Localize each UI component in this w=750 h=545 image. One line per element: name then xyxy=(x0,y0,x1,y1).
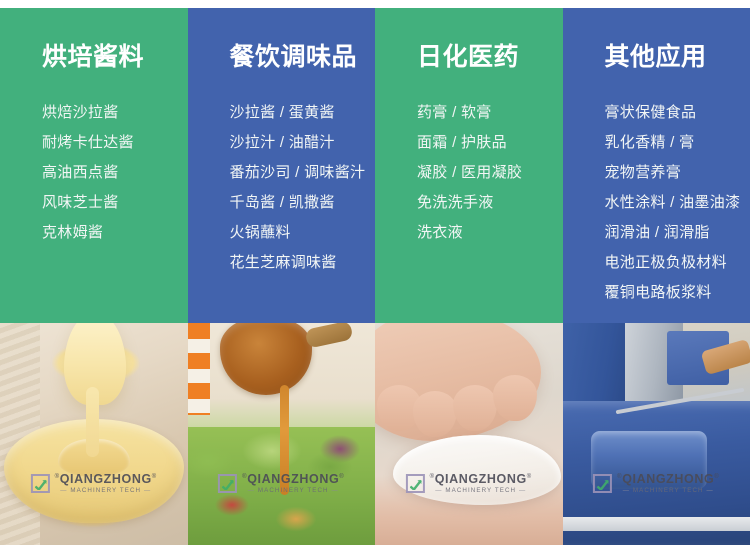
photo-salad-dressing-pour: ®QIANGZHONG® — MACHINERY TECH — xyxy=(188,323,376,545)
category-column-baking-sauce[interactable]: 烘培酱料 烘焙沙拉酱 耐烤卡仕达酱 高油西点酱 风味芝士酱 克林姆酱 xyxy=(0,8,188,323)
tray-rim-shape xyxy=(563,517,750,531)
list-item: 电池正极负极材料 xyxy=(605,248,750,278)
category-column-catering-seasoning[interactable]: 餐饮调味品 沙拉酱 / 蛋黄酱 沙拉汁 / 油醋汁 番茄沙司 / 调味酱汁 千岛… xyxy=(188,8,376,323)
list-item: 水性涂料 / 油墨油漆 xyxy=(605,188,750,218)
photo-strip: ®QIANGZHONG® — MACHINERY TECH — ®QIA xyxy=(0,323,750,545)
category-title: 其他应用 xyxy=(605,44,750,72)
list-item: 沙拉汁 / 油醋汁 xyxy=(230,128,376,158)
finger-shape xyxy=(493,375,537,421)
list-item: 高油西点酱 xyxy=(42,158,188,188)
list-item: 覆铜电路板浆料 xyxy=(605,278,750,308)
category-title: 餐饮调味品 xyxy=(230,44,376,72)
category-item-list: 烘焙沙拉酱 耐烤卡仕达酱 高油西点酱 风味芝士酱 克林姆酱 xyxy=(42,98,188,248)
list-item: 膏状保健食品 xyxy=(605,98,750,128)
category-column-other-applications[interactable]: 其他应用 膏状保健食品 乳化香精 / 膏 宠物营养膏 水性涂料 / 油墨油漆 润… xyxy=(563,8,750,323)
paint-roller-shape xyxy=(591,431,707,489)
list-item: 克林姆酱 xyxy=(42,218,188,248)
category-title: 烘培酱料 xyxy=(42,44,188,72)
category-title: 日化医药 xyxy=(417,44,563,72)
list-item: 润滑油 / 润滑脂 xyxy=(605,218,750,248)
sauce-swirl-shape xyxy=(58,439,130,477)
list-item: 花生芝麻调味酱 xyxy=(230,248,376,278)
list-item: 宠物营养膏 xyxy=(605,158,750,188)
list-item: 烘焙沙拉酱 xyxy=(42,98,188,128)
category-item-list: 膏状保健食品 乳化香精 / 膏 宠物营养膏 水性涂料 / 油墨油漆 润滑油 / … xyxy=(605,98,750,308)
category-column-daily-chemical-pharma[interactable]: 日化医药 药膏 / 软膏 面霜 / 护肤品 凝胶 / 医用凝胶 免洗洗手液 洗衣… xyxy=(375,8,563,323)
list-item: 面霜 / 护肤品 xyxy=(417,128,563,158)
photo-blue-paint-roller: ®QIANGZHONG® — MACHINERY TECH — xyxy=(563,323,750,545)
paint-can-shape xyxy=(563,323,633,413)
package-shape xyxy=(188,323,210,415)
list-item: 沙拉酱 / 蛋黄酱 xyxy=(230,98,376,128)
pouring-stream-shape xyxy=(280,385,289,495)
photo-creamy-yellow-sauce: ®QIANGZHONG® — MACHINERY TECH — xyxy=(0,323,188,545)
wooden-handle-shape xyxy=(304,323,353,349)
list-item: 洗衣液 xyxy=(417,218,563,248)
list-item: 番茄沙司 / 调味酱汁 xyxy=(230,158,376,188)
list-item: 乳化香精 / 膏 xyxy=(605,128,750,158)
category-item-list: 药膏 / 软膏 面霜 / 护肤品 凝胶 / 医用凝胶 免洗洗手液 洗衣液 xyxy=(417,98,563,248)
list-item: 免洗洗手液 xyxy=(417,188,563,218)
application-showcase-page: 烘培酱料 烘焙沙拉酱 耐烤卡仕达酱 高油西点酱 风味芝士酱 克林姆酱 餐饮调味品… xyxy=(0,0,750,545)
gel-smear-shape xyxy=(393,435,561,505)
list-item: 药膏 / 软膏 xyxy=(417,98,563,128)
list-item: 耐烤卡仕达酱 xyxy=(42,128,188,158)
list-item: 凝胶 / 医用凝胶 xyxy=(417,158,563,188)
category-item-list: 沙拉酱 / 蛋黄酱 沙拉汁 / 油醋汁 番茄沙司 / 调味酱汁 千岛酱 / 凯撒… xyxy=(230,98,376,278)
list-item: 千岛酱 / 凯撒酱 xyxy=(230,188,376,218)
photo-skin-gel-application: ®QIANGZHONG® — MACHINERY TECH — xyxy=(375,323,563,545)
list-item: 火锅蘸料 xyxy=(230,218,376,248)
category-band: 烘培酱料 烘焙沙拉酱 耐烤卡仕达酱 高油西点酱 风味芝士酱 克林姆酱 餐饮调味品… xyxy=(0,8,750,323)
list-item: 风味芝士酱 xyxy=(42,188,188,218)
dressing-cup-shape xyxy=(220,323,312,395)
